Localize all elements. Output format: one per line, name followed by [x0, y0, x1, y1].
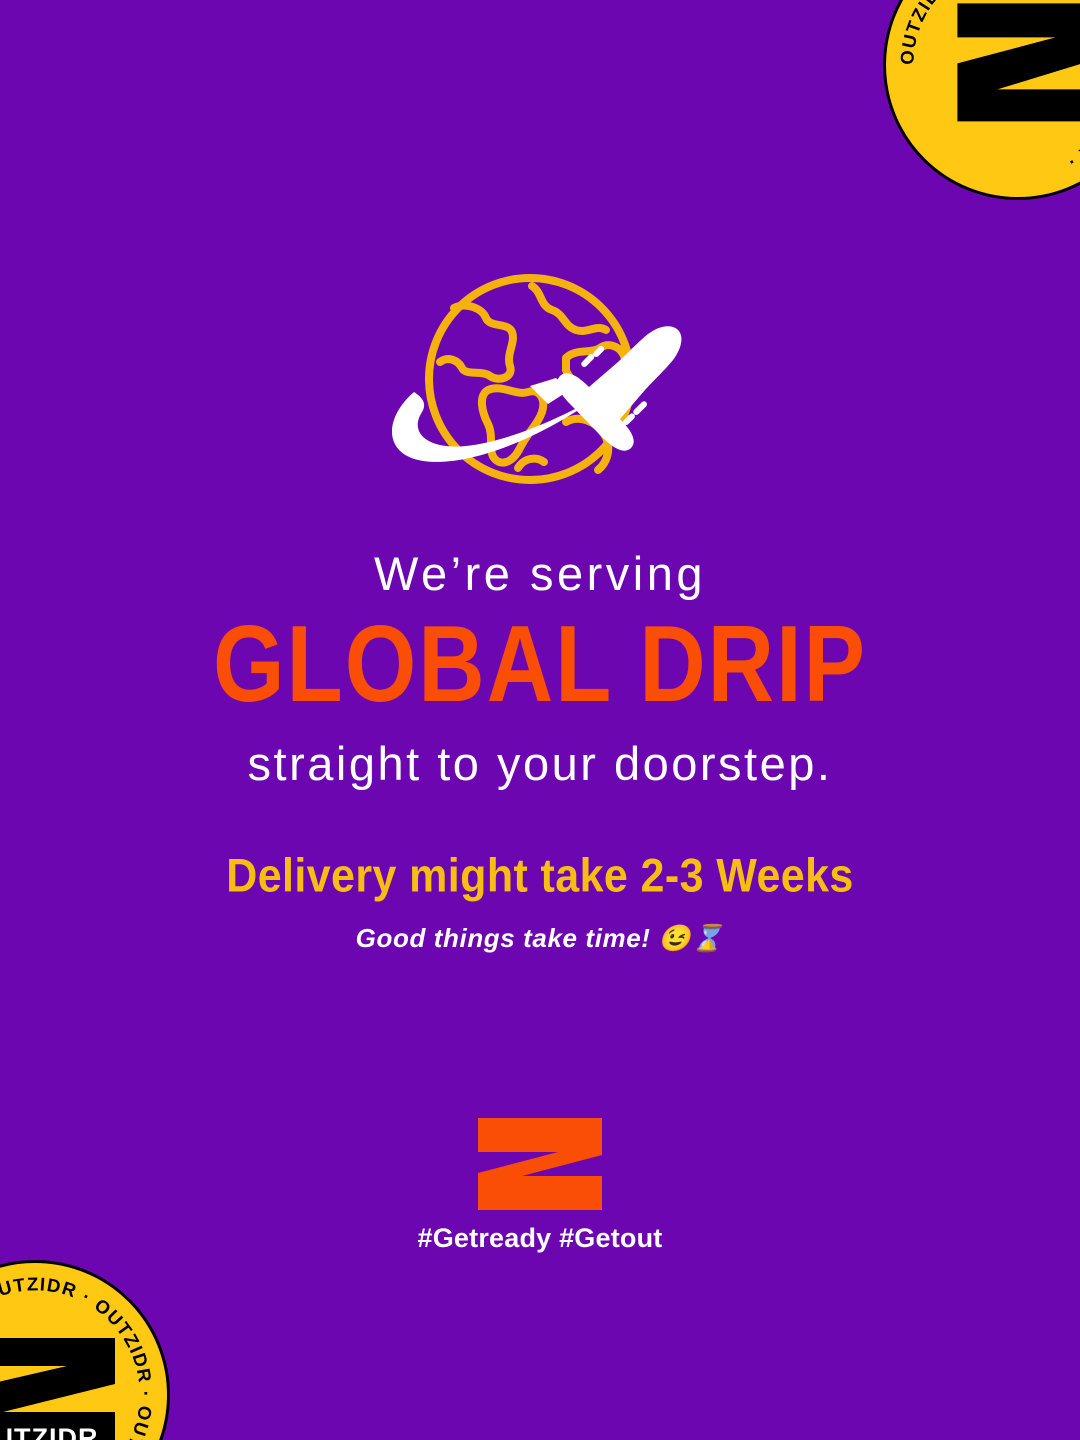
delivery-notice: Delivery might take 2-3 Weeks	[0, 850, 1080, 904]
hashtags-text: #Getready #Getout	[418, 1223, 663, 1254]
page-title: GLOBAL DRIP	[0, 608, 1080, 722]
globe-continent-6	[518, 459, 544, 468]
globe-with-plane-icon	[370, 272, 710, 502]
eyebrow-text: We’re serving	[0, 548, 1080, 600]
globe-continent-2	[532, 286, 606, 331]
badge-core-bottom-left: OUTZIDR	[0, 1334, 119, 1440]
z-badge-icon	[951, 0, 1080, 127]
z-logo-icon	[478, 1118, 602, 1210]
subhead-text: straight to your doorstep.	[0, 738, 1080, 790]
badge-core-top-right	[921, 0, 1080, 127]
footer-block: #Getready #Getout	[0, 1118, 1080, 1254]
poster-canvas: OUTZIDR · OUTZIDR · OUTZIDR · OUTZIDR · …	[0, 0, 1080, 1440]
outzidr-badge-top-right: OUTZIDR · OUTZIDR · OUTZIDR · OUTZIDR ·	[883, 0, 1080, 200]
copy-block: We’re serving GLOBAL DRIP straight to yo…	[0, 548, 1080, 954]
outzidr-badge-bottom-left: OUTZIDR · OUTZIDR · OUTZIDR · OUTZIDR · …	[0, 1260, 170, 1440]
delivery-note: Good things take time! 😉⌛	[0, 923, 1080, 954]
badge-wordmark: OUTZIDR	[0, 1422, 106, 1440]
globe-artwork	[0, 272, 1080, 502]
